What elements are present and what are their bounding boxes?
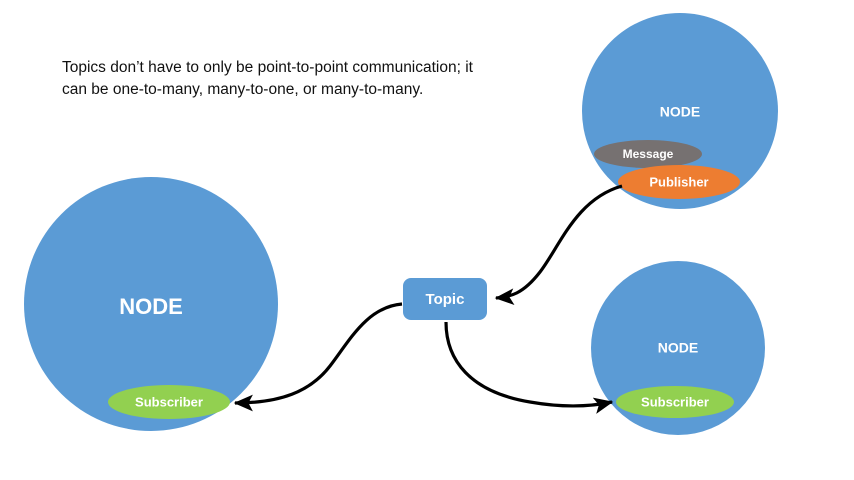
message-label: Message xyxy=(623,147,674,161)
subscriber-right-label: Subscriber xyxy=(641,394,709,409)
subscriber-left-label: Subscriber xyxy=(135,394,203,409)
topic-label: Topic xyxy=(426,291,465,308)
node-left[interactable]: NODE Subscriber xyxy=(24,177,278,431)
node-top-right[interactable]: NODE Message Publisher xyxy=(582,13,778,209)
node-left-label: NODE xyxy=(119,294,183,319)
topic-box[interactable]: Topic xyxy=(403,278,487,320)
arrow-topic-to-subscriber-right xyxy=(446,322,612,406)
arrow-publisher-to-topic xyxy=(496,186,622,298)
caption-text: Topics don’t have to only be point-to-po… xyxy=(62,57,482,102)
node-bottom-right[interactable]: NODE Subscriber xyxy=(591,261,765,435)
node-bottom-right-label: NODE xyxy=(658,340,698,356)
node-top-right-label: NODE xyxy=(660,104,700,120)
publisher-label: Publisher xyxy=(649,174,708,189)
